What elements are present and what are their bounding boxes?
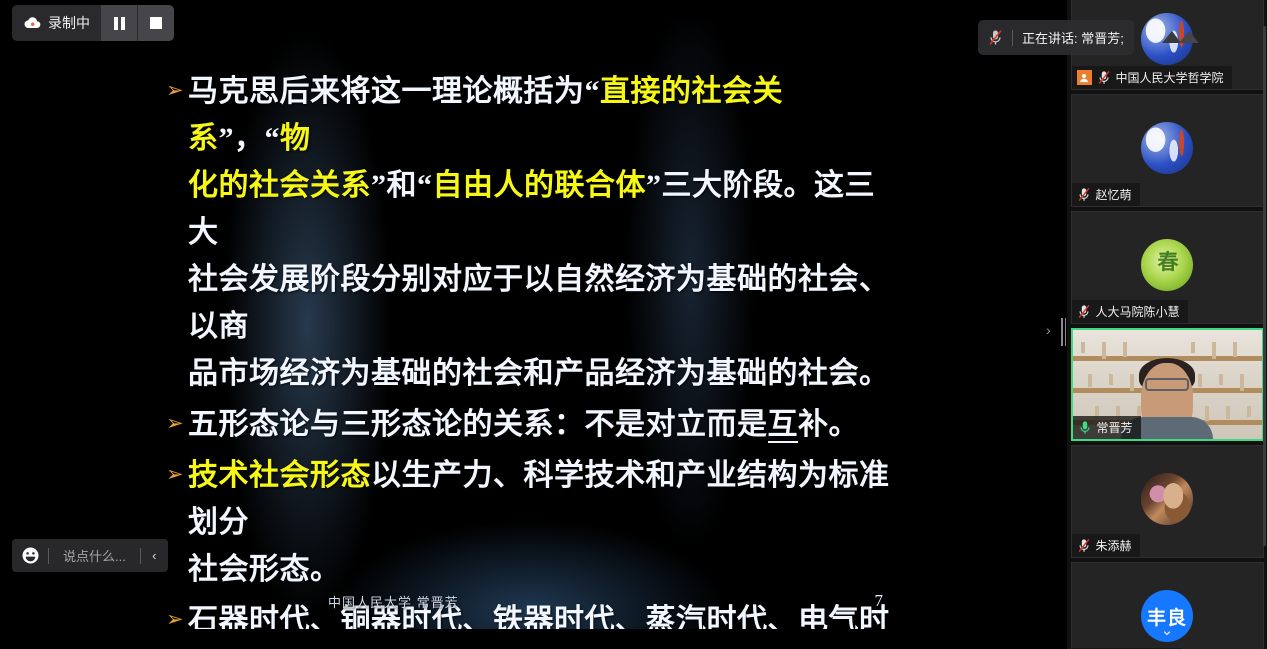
participant-name-bar: 中国人民大学哲学院 [1072,66,1232,89]
participant-tile[interactable]: 人大马院陈小慧 [1071,211,1264,324]
bullet-text-segment: ” [371,169,387,202]
bullet-line: 社会形态。 [188,546,902,593]
tencent-meeting-logo [1150,22,1220,52]
mic-muted-icon [1077,187,1091,202]
participant-name-bar: 人大马院陈小慧 [1072,300,1188,323]
bullet-text-segment: 技术社会形态 [188,459,371,492]
bullet-text-segment: 化的社会关系 [188,169,371,202]
bullet-text-segment: 五形态论与三形态论的关系：不是对立而是 [188,408,768,441]
participant-name: 人大马院陈小慧 [1096,303,1180,320]
bullet-line: 五形态论与三形态论的关系：不是对立而是互补。 [188,401,859,448]
bullet-text-segment: “ [417,169,433,202]
glasses-icon [1145,378,1189,391]
recording-label: 录制中 [48,13,90,33]
bullet-text-segment: 互 [768,408,799,443]
mic-muted-icon [988,29,1003,46]
screen-share-stage: ➢马克思后来将这一理论概括为“直接的社会关系”，“物化的社会关系”和“自由人的联… [0,0,1064,629]
mic-muted-icon [1077,538,1091,553]
bullet-text: 五形态论与三形态论的关系：不是对立而是互补。 [188,401,859,448]
participant-name: 中国人民大学哲学院 [1116,69,1224,86]
bullet-arrow-icon: ➢ [166,452,188,497]
bullet-text-segment: 自由人的联合体 [433,169,647,202]
panel-drag-handle[interactable] [1061,318,1066,346]
sidebar-scrollbar[interactable] [1263,0,1266,649]
participant-name: 赵忆萌 [1096,186,1132,203]
participant-name: 常晋芳 [1097,419,1133,436]
mic-muted-icon [1097,70,1111,85]
participants-sidebar[interactable]: 中国人民大学哲学院 赵忆萌 人大马院陈小慧 常晋芳 朱添赫丰良⌄ [1067,0,1267,649]
presentation-slide: ➢马克思后来将这一理论概括为“直接的社会关系”，“物化的社会关系”和“自由人的联… [132,20,930,629]
mic-on-icon [1078,420,1092,435]
cloud-icon [24,17,41,29]
chevron-right-icon[interactable]: › [1046,322,1051,338]
bullet-text-segment: “ [265,122,281,155]
bullet-text-segment: 社会发展阶段分别对应于以自然经济为基础的社会、以商 [188,263,890,343]
recording-indicator: 录制中 [12,5,174,41]
recording-label-group: 录制中 [12,5,101,41]
slide-bullet: ➢技术社会形态以生产力、科学技术和产业结构为标准划分社会形态。 [166,452,902,593]
participant-tile[interactable]: 朱添赫 [1071,445,1264,558]
bullet-text-segment: ” [646,169,662,202]
slide-bullet: ➢五形态论与三形态论的关系：不是对立而是互补。 [166,401,902,448]
participant-name-bar: 朱添赫 [1072,534,1140,557]
host-badge-icon [1077,70,1092,85]
bullet-arrow-icon: ➢ [166,68,188,113]
chevron-down-icon[interactable]: ⌄ [1161,621,1174,639]
avatar [1141,239,1193,291]
bullet-text-segment: “ [585,75,601,108]
bullet-text: 马克思后来将这一理论概括为“直接的社会关系”，“物化的社会关系”和“自由人的联合… [188,68,902,397]
slide-footer-author: 中国人民大学 常晋芳 [328,592,459,611]
bullet-text-segment: 马克思后来将这一理论概括为 [188,75,585,108]
slide-page-number: 7 [875,591,885,611]
bullet-text-segment: 社会形态。 [188,553,341,586]
participant-name-bar: 常晋芳 [1073,416,1141,439]
stop-icon [150,17,162,29]
bullet-text-segment: 补。 [798,408,859,441]
bullet-text-segment: 物 [280,122,311,155]
bullet-line: 技术社会形态以生产力、科学技术和产业结构为标准划分 [188,452,902,546]
bullet-text: 技术社会形态以生产力、科学技术和产业结构为标准划分社会形态。 [188,452,902,593]
avatar [1141,122,1193,174]
bullet-line: 社会发展阶段分别对应于以自然经济为基础的社会、以商 [188,256,902,350]
participant-tile[interactable]: 赵忆萌 [1071,94,1264,207]
bullet-text-segment: 品市场经济为基础的社会和产品经济为基础的社会。 [188,357,890,390]
bullet-arrow-icon: ➢ [166,401,188,446]
pause-icon [114,17,125,30]
stop-recording-button[interactable] [138,5,174,41]
divider [1012,30,1013,46]
bullet-line: 马克思后来将这一理论概括为“直接的社会关系”，“物 [188,68,902,162]
pause-recording-button[interactable] [101,5,137,41]
bullet-line: 化的社会关系”和“自由人的联合体”三大阶段。这三大 [188,162,902,256]
avatar [1141,473,1193,525]
bullet-text-segment: 和 [387,169,418,202]
mic-muted-icon [1077,304,1091,319]
speaking-text: 正在讲话: 常晋芳; [1022,28,1124,47]
speaking-banner: 正在讲话: 常晋芳; [978,20,1134,55]
slide-body: ➢马克思后来将这一理论概括为“直接的社会关系”，“物化的社会关系”和“自由人的联… [132,20,930,629]
participant-tile[interactable]: 常晋芳 [1071,328,1264,441]
chevron-left-icon[interactable]: ‹ [141,539,168,572]
smiley-icon[interactable] [12,539,48,572]
bullet-text-segment: ， [234,122,265,155]
participant-name: 朱添赫 [1096,537,1132,554]
slide-footer: 中国人民大学 常晋芳 7 [132,591,930,611]
slide-bullet: ➢马克思后来将这一理论概括为“直接的社会关系”，“物化的社会关系”和“自由人的联… [166,68,902,397]
bullet-line: 品市场经济为基础的社会和产品经济为基础的社会。 [188,350,902,397]
participant-name-bar: 赵忆萌 [1072,183,1140,206]
bullet-text-segment: ” [219,122,235,155]
meeting-window: ➢马克思后来将这一理论概括为“直接的社会关系”，“物化的社会关系”和“自由人的联… [0,0,1267,649]
chat-quick-bar[interactable]: 说点什么... ‹ [12,539,168,572]
chat-input[interactable]: 说点什么... [49,546,140,565]
participant-tile[interactable]: 丰良⌄ [1071,562,1264,649]
